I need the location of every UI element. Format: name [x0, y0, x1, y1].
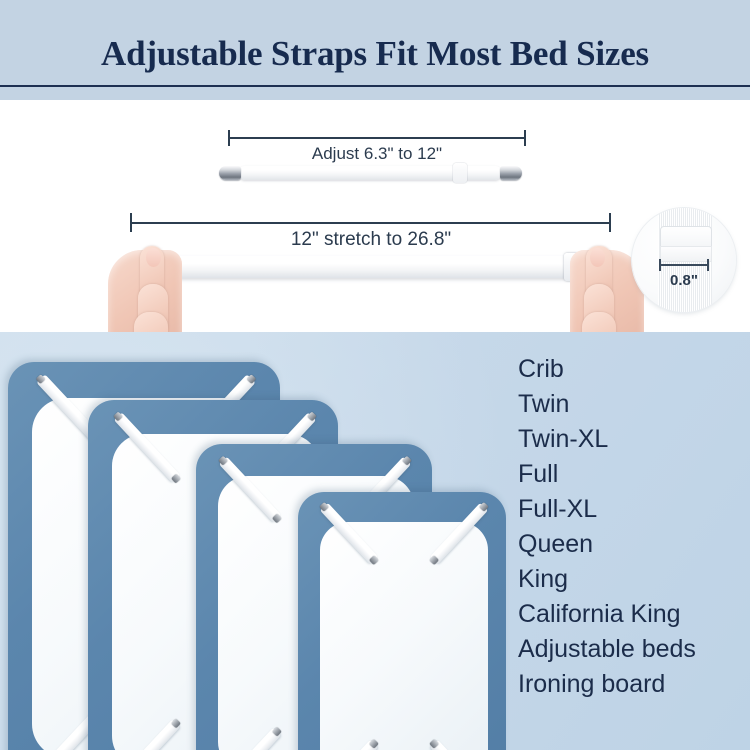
- infographic-root: Adjustable Straps Fit Most Bed Sizes Adj…: [0, 0, 750, 750]
- strap-width-label: 0.8": [654, 272, 714, 289]
- list-item: Adjustable beds: [518, 632, 696, 667]
- small-mattress: [298, 492, 506, 750]
- list-item: Full-XL: [518, 492, 696, 527]
- header-divider: [0, 85, 750, 87]
- short-strap-dimension-label: Adjust 6.3" to 12": [229, 144, 525, 164]
- width-dimension-line: [660, 264, 708, 266]
- short-strap-body: [238, 166, 502, 180]
- hand-grip-icon: [108, 250, 182, 332]
- long-strap-dimension-line: [131, 222, 611, 224]
- list-item: Twin-XL: [518, 422, 696, 457]
- metal-clip-icon: [500, 166, 522, 180]
- list-item: Ironing board: [518, 667, 696, 702]
- short-strap-dimension-line: [229, 137, 525, 139]
- list-item: King: [518, 562, 696, 597]
- metal-clip-icon: [219, 166, 241, 180]
- list-item: Twin: [518, 387, 696, 422]
- bed-size-list: Crib Twin Twin-XL Full Full-XL Queen Kin…: [518, 352, 696, 702]
- page-title: Adjustable Straps Fit Most Bed Sizes: [0, 34, 750, 74]
- list-item: Full: [518, 457, 696, 492]
- width-dimension-tick-right: [707, 259, 709, 271]
- header-banner: Adjustable Straps Fit Most Bed Sizes: [0, 0, 750, 100]
- long-strap-dimension-label: 12" stretch to 26.8": [131, 229, 611, 251]
- mattress-surface: [320, 522, 488, 750]
- long-strap-body: [150, 256, 598, 278]
- magnified-detail-circle-icon: 0.8": [632, 208, 736, 312]
- list-item: Crib: [518, 352, 696, 387]
- strap-loop-detail-lower: [660, 246, 712, 262]
- list-item: Queen: [518, 527, 696, 562]
- product-demo-section: Adjust 6.3" to 12" 12" stretch to 26.8": [0, 100, 750, 332]
- list-item: California King: [518, 597, 696, 632]
- width-dimension-tick-left: [659, 259, 661, 271]
- strap-buckle-icon: [453, 163, 467, 183]
